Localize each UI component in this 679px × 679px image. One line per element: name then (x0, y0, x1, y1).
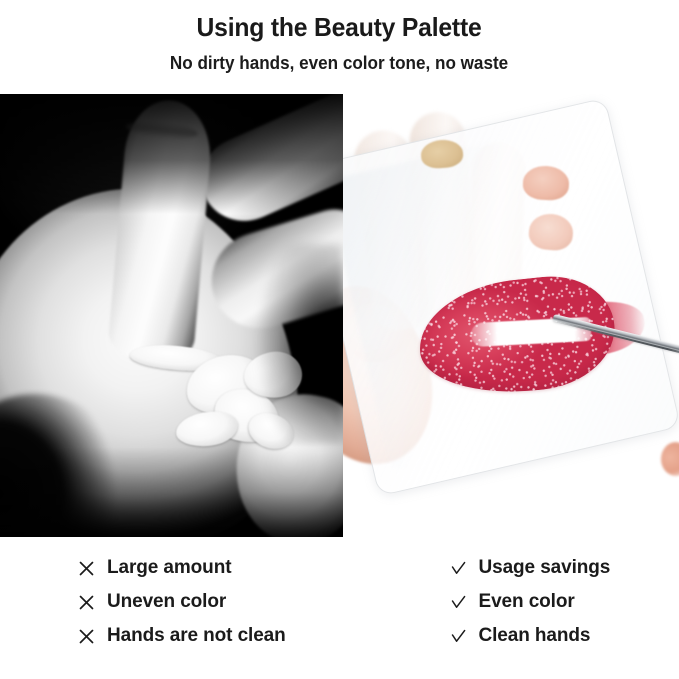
list-item: Clean hands (450, 619, 679, 653)
check-mark-icon (450, 560, 467, 577)
without-palette-photo (0, 94, 343, 537)
photo-comparison-strip (0, 94, 679, 537)
with-palette-photo (343, 94, 679, 537)
x-mark-icon (78, 594, 95, 611)
list-item: Large amount (78, 551, 340, 585)
lipstick-swatch (419, 280, 615, 392)
list-item-label: Clean hands (479, 625, 591, 647)
header: Using the Beauty Palette No dirty hands,… (0, 0, 679, 94)
check-mark-icon (450, 594, 467, 611)
benefits-column: Usage savings Even color Clean hands (340, 537, 679, 679)
list-item: Uneven color (78, 585, 340, 619)
x-mark-icon (78, 560, 95, 577)
list-item: Even color (450, 585, 679, 619)
list-item-label: Usage savings (479, 557, 611, 579)
page-subtitle: No dirty hands, even color tone, no wast… (170, 51, 508, 75)
list-item-label: Uneven color (107, 591, 226, 613)
page-title: Using the Beauty Palette (197, 10, 482, 44)
beauty-palette-infographic: Using the Beauty Palette No dirty hands,… (0, 0, 679, 679)
list-item-label: Hands are not clean (107, 625, 286, 647)
drawbacks-column: Large amount Uneven color Hands are not … (0, 537, 340, 679)
shadow-bottom (0, 447, 343, 537)
list-item-label: Large amount (107, 557, 231, 579)
check-mark-icon (450, 628, 467, 645)
list-item-label: Even color (479, 591, 575, 613)
shadow-right (253, 244, 343, 444)
list-item: Hands are not clean (78, 619, 340, 653)
comparison-lists: Large amount Uneven color Hands are not … (0, 537, 679, 679)
x-mark-icon (78, 628, 95, 645)
list-item: Usage savings (450, 551, 679, 585)
